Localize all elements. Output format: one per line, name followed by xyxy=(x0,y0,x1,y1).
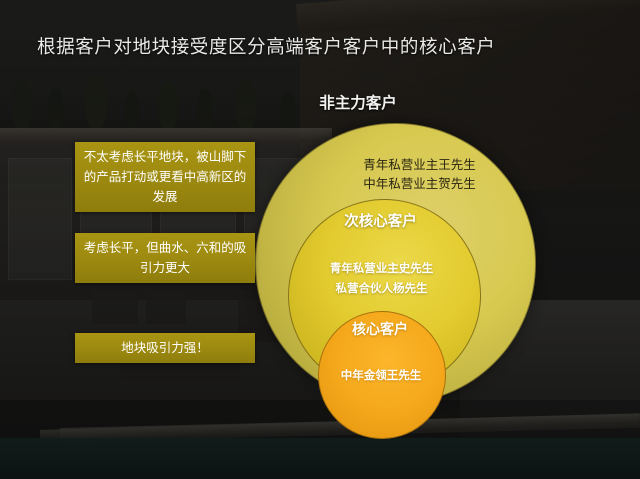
middle-circle-label-text: 次核心客户 xyxy=(344,214,417,230)
callout-text-1: 不太考虑长平地块，被山脚下的产品打动或更看中高新区的发展 xyxy=(81,147,249,207)
callout-text-2: 考虑长平，但曲水、六和的吸引力更大 xyxy=(81,238,249,278)
middle-name-2: 私营合伙人杨先生 xyxy=(286,278,477,298)
middle-circle-names: 青年私营业主史先生 私营合伙人杨先生 xyxy=(288,258,479,298)
outer-name-2: 中年私营业主贺先生 xyxy=(280,174,559,193)
outer-circle-names: 青年私营业主王先生 中年私营业主贺先生 xyxy=(255,155,534,193)
callout-box-1: 不太考虑长平地块，被山脚下的产品打动或更看中高新区的发展 xyxy=(75,142,255,212)
outer-circle-label-text: 非主力客户 xyxy=(319,94,397,112)
inner-name-1: 中年金领王先生 xyxy=(318,366,444,384)
page-title: 根据客户对地块接受度区分高端客户客户中的核心客户 xyxy=(37,33,495,59)
inner-circle-label-text: 核心客户 xyxy=(352,322,408,338)
outer-circle-label: 非主力客户 xyxy=(0,91,640,113)
outer-name-1: 青年私营业主王先生 xyxy=(280,155,559,174)
callout-box-3: 地块吸引力强！ xyxy=(75,333,255,363)
slide-canvas: 根据客户对地块接受度区分高端客户客户中的核心客户 非主力客户 青年私营业主王先生… xyxy=(0,0,640,479)
middle-name-1: 青年私营业主史先生 xyxy=(286,258,477,278)
callout-box-2: 考虑长平，但曲水、六和的吸引力更大 xyxy=(75,233,255,283)
callout-text-3: 地块吸引力强！ xyxy=(81,338,249,358)
inner-circle-label: 核心客户 xyxy=(318,319,444,339)
inner-circle-names: 中年金领王先生 xyxy=(318,366,444,384)
middle-circle-label: 次核心客户 xyxy=(288,210,479,231)
